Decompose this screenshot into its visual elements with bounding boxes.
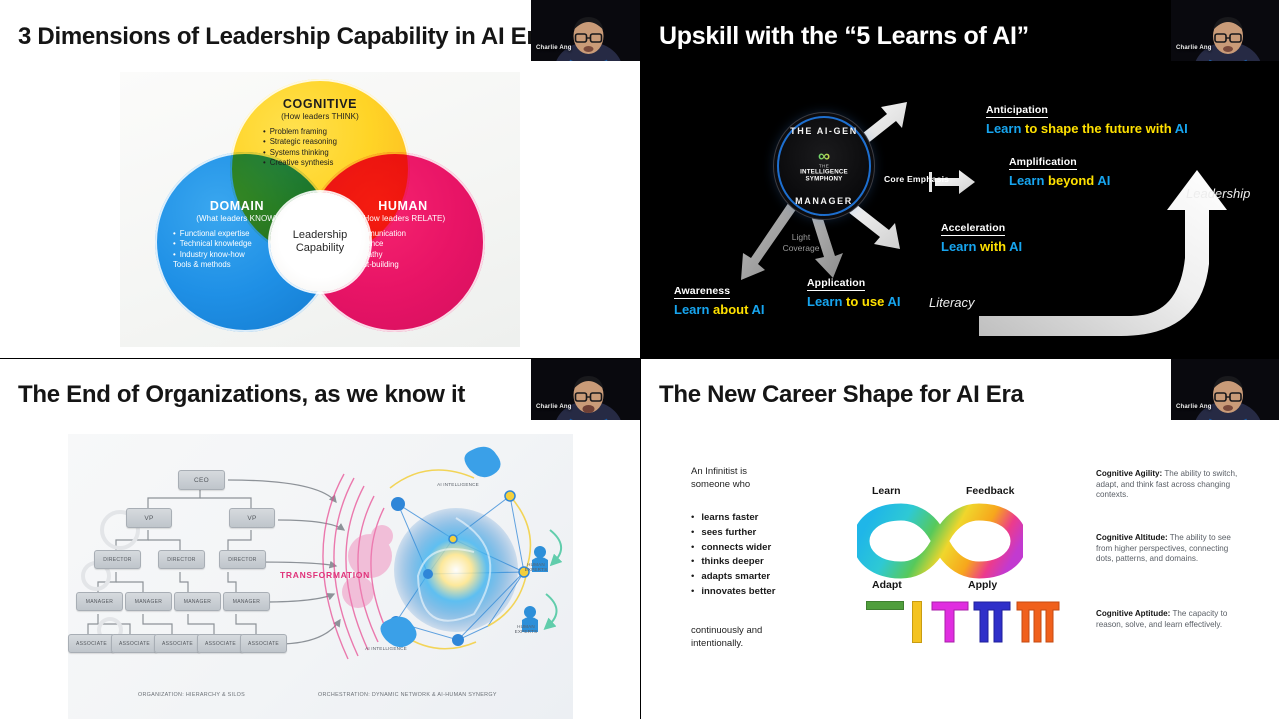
ai-gen-manager-badge: THE AI-GEN ∞ THE INTELLIGENCE SYMPHONY M…	[777, 116, 871, 216]
infinity-icon: ∞	[792, 149, 856, 164]
cognitive-subtitle: (How leaders THINK)	[235, 112, 405, 121]
participant-name: Charlie Ang	[1176, 404, 1212, 410]
learn-title: Acceleration	[941, 222, 1005, 236]
learn-phrase: Learn to shape the future with AI	[986, 121, 1188, 136]
org-node-associate: ASSOCIATE	[197, 634, 244, 653]
list-item: Creative synthesis	[263, 158, 405, 169]
cognitive-title: COGNITIVE	[235, 97, 405, 111]
network-tag-ai-intelligence: AI INTELLIGENCE	[356, 646, 416, 651]
learn-title: Application	[807, 277, 865, 291]
badge-ring-top: THE AI-GEN	[779, 126, 869, 136]
participant-name: Charlie Ang	[536, 404, 572, 410]
badge-inner-name: INTELLIGENCE SYMPHONY	[792, 169, 856, 184]
list-item: sees further	[691, 526, 775, 541]
org-node-vp: VP	[229, 508, 275, 528]
intro-line-2: someone who	[691, 478, 831, 491]
org-node-manager: MANAGER	[125, 592, 172, 611]
loop-label-learn: Learn	[872, 485, 901, 497]
org-node-director: DIRECTOR	[158, 550, 205, 569]
axis-label-leadership: Leadership	[1186, 186, 1250, 201]
list-item: Systems thinking	[263, 148, 405, 159]
career-shape-i	[912, 601, 922, 643]
learn-title: Amplification	[1009, 156, 1077, 170]
learn-middle: beyond	[1044, 173, 1097, 188]
learn-item-anticipation: Anticipation Learn to shape the future w…	[986, 100, 1188, 136]
learn-middle: to shape the future with	[1021, 121, 1174, 136]
outro-line-2: intentionally.	[691, 637, 841, 650]
cognitive-altitude-block: Cognitive Altitude: The ability to see f…	[1096, 533, 1246, 565]
participant-name: Charlie Ang	[536, 45, 572, 51]
org-node-ceo: CEO	[178, 470, 225, 490]
participant-name: Charlie Ang	[1176, 45, 1212, 51]
learn-word: Learn	[941, 239, 976, 254]
badge-inner: ∞ THE INTELLIGENCE SYMPHONY	[792, 149, 856, 184]
infinitist-traits: learns faster sees further connects wide…	[691, 511, 775, 600]
transformation-label: TRANSFORMATION	[280, 570, 370, 580]
learn-middle: with	[976, 239, 1009, 254]
learn-ai: AI	[1175, 121, 1188, 136]
learn-title: Anticipation	[986, 104, 1048, 118]
core-emphasis-label: Core Emphasis	[884, 174, 949, 184]
intro-line-1: An Infinitist is	[691, 465, 831, 478]
learn-word: Learn	[986, 121, 1021, 136]
org-node-associate: ASSOCIATE	[68, 634, 115, 653]
network-tag-ai-intelligence: AI INTELLIGENCE	[428, 482, 488, 487]
page-title: The End of Organizations, as we know it	[18, 381, 465, 409]
participant-video	[531, 359, 640, 420]
list-item: adapts smarter	[691, 570, 775, 585]
venn-center-label: Leadership Capability	[270, 192, 370, 292]
infinity-loop-icon	[857, 502, 1023, 580]
participant-video	[531, 0, 640, 61]
page-title: Upskill with the “5 Learns of AI”	[659, 22, 1029, 51]
learn-middle: about	[709, 302, 751, 317]
list-item: Problem framing	[263, 127, 405, 138]
learn-middle: to use	[842, 294, 887, 309]
learn-phrase: Learn about AI	[674, 302, 765, 317]
cognitive-aptitude-term: Cognitive Aptitude:	[1096, 609, 1170, 618]
webcam-tile[interactable]: Charlie Ang	[1171, 359, 1279, 420]
org-node-manager: MANAGER	[174, 592, 221, 611]
webcam-tile[interactable]: Charlie Ang	[1171, 0, 1279, 61]
learn-ai: AI	[752, 302, 765, 317]
learn-item-awareness: Awareness Learn about AI	[674, 281, 765, 317]
page-title: 3 Dimensions of Leadership Capability in…	[18, 23, 548, 51]
webcam-tile[interactable]: Charlie Ang	[531, 0, 640, 61]
slide-new-career-shape[interactable]: The New Career Shape for AI Era An Infin…	[641, 359, 1279, 719]
org-transformation-graphic: CEO VP VP DIRECTOR DIRECTOR DIRECTOR MAN…	[68, 434, 573, 719]
venn-label-cognitive: COGNITIVE (How leaders THINK) Problem fr…	[235, 97, 405, 169]
org-node-associate: ASSOCIATE	[111, 634, 158, 653]
org-node-manager: MANAGER	[223, 592, 270, 611]
network-tag-human-experts: HUMAN EXPERTS	[506, 624, 546, 635]
learn-word: Learn	[807, 294, 842, 309]
cognitive-list: Problem framing Strategic reasoning Syst…	[263, 127, 405, 169]
venn-diagram: Leadership Capability COGNITIVE (How lea…	[120, 72, 520, 347]
light-coverage-label: Light Coverage	[771, 232, 831, 254]
participant-video	[1171, 0, 1279, 61]
org-node-manager: MANAGER	[76, 592, 123, 611]
caption-organization: ORGANIZATION: HIERARCHY & SILOS	[138, 692, 245, 698]
learn-ai: AI	[1009, 239, 1022, 254]
center-line-1: Leadership	[293, 229, 347, 242]
list-item: connects wider	[691, 541, 775, 556]
list-item: innovates better	[691, 585, 775, 600]
loop-label-apply: Apply	[968, 579, 997, 591]
career-shape-dash	[866, 601, 904, 610]
badge-ring-bottom: MANAGER	[779, 196, 869, 206]
org-node-director: DIRECTOR	[94, 550, 141, 569]
slide-five-learns[interactable]: Upskill with the “5 Learns of AI” Litera…	[641, 0, 1279, 358]
learn-word: Learn	[674, 302, 709, 317]
list-item: Strategic reasoning	[263, 137, 405, 148]
career-shape-pi	[973, 601, 1011, 643]
cognitive-aptitude-block: Cognitive Aptitude: The capacity to reas…	[1096, 609, 1246, 630]
participant-video	[1171, 359, 1279, 420]
list-item: thinks deeper	[691, 555, 775, 570]
learn-ai: AI	[1097, 173, 1110, 188]
org-node-associate: ASSOCIATE	[154, 634, 201, 653]
light-coverage-line-1: Light	[771, 232, 831, 243]
slide-end-of-organizations[interactable]: The End of Organizations, as we know it	[0, 359, 640, 719]
cognitive-agility-block: Cognitive Agility: The ability to switch…	[1096, 469, 1246, 501]
career-shape-t	[931, 601, 969, 643]
cognitive-altitude-term: Cognitive Altitude:	[1096, 533, 1168, 542]
learn-item-acceleration: Acceleration Learn with AI	[941, 218, 1022, 254]
slide-grid: 3 Dimensions of Leadership Capability in…	[0, 0, 1279, 719]
learn-ai: AI	[887, 294, 900, 309]
infinitist-intro: An Infinitist is someone who	[691, 465, 831, 491]
learn-title: Awareness	[674, 285, 730, 299]
cognitive-agility-term: Cognitive Agility:	[1096, 469, 1162, 478]
center-line-2: Capability	[296, 242, 344, 255]
outro-line-1: continuously and	[691, 624, 841, 637]
page-title: The New Career Shape for AI Era	[659, 381, 1024, 409]
learn-phrase: Learn with AI	[941, 239, 1022, 254]
career-shape-m	[1016, 601, 1060, 643]
learn-word: Learn	[1009, 173, 1044, 188]
caption-orchestration: ORCHESTRATION: DYNAMIC NETWORK & AI-HUMA…	[318, 692, 497, 698]
loop-label-feedback: Feedback	[966, 485, 1014, 497]
light-coverage-line-2: Coverage	[771, 243, 831, 254]
network-tag-human-experts: HUMAN EXPERTS	[516, 562, 556, 573]
slide-leadership-dimensions[interactable]: 3 Dimensions of Leadership Capability in…	[0, 0, 640, 358]
org-node-director: DIRECTOR	[219, 550, 266, 569]
learn-item-amplification: Amplification Learn beyond AI	[1009, 152, 1110, 188]
org-node-vp: VP	[126, 508, 172, 528]
learn-phrase: Learn beyond AI	[1009, 173, 1110, 188]
learn-phrase: Learn to use AI	[807, 294, 900, 309]
list-item: learns faster	[691, 511, 775, 526]
loop-label-adapt: Adapt	[872, 579, 902, 591]
webcam-tile[interactable]: Charlie Ang	[531, 359, 640, 420]
infinitist-outro: continuously and intentionally.	[691, 624, 841, 650]
learn-item-application: Application Learn to use AI	[807, 273, 900, 309]
